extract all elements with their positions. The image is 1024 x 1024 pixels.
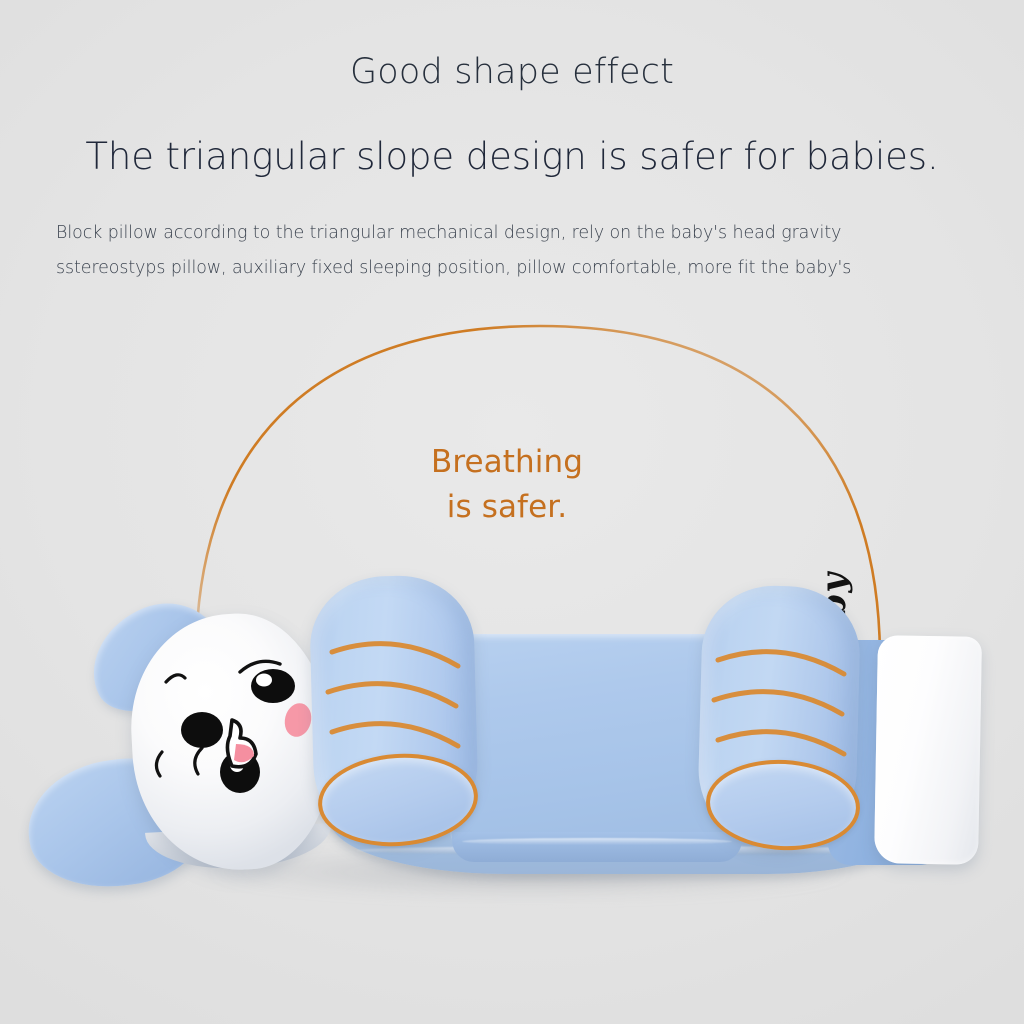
center-pad-seam	[462, 838, 732, 845]
product-illustration: Love baby	[0, 0, 1024, 1024]
product-marketing-image: Good shape effect The triangular slope d…	[0, 0, 1024, 1024]
center-pad-front-face	[452, 832, 742, 862]
love-baby-pillow	[874, 635, 982, 865]
